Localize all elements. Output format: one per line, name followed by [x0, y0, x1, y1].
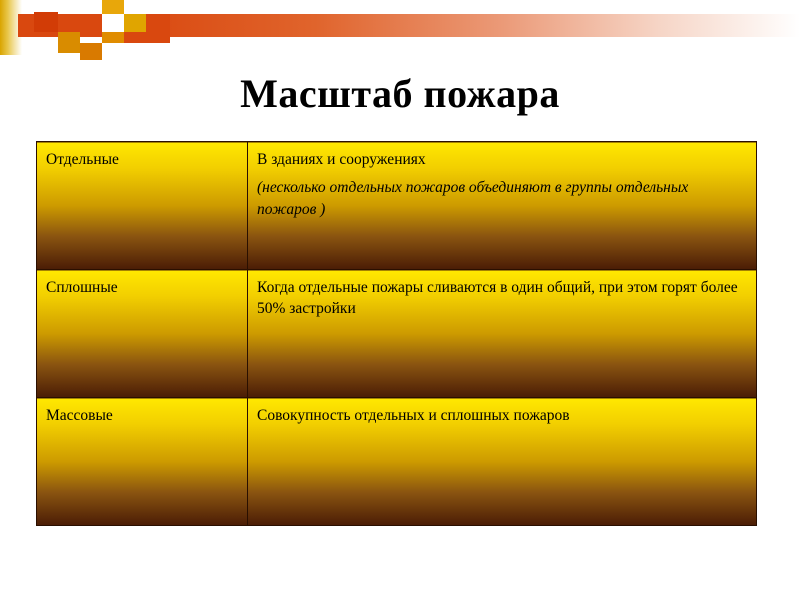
- deco-square-6: [102, 0, 124, 14]
- row-description-line-1: Совокупность отдельных и сплошных пожаро…: [257, 405, 747, 426]
- row-description-line-1: В зданиях и сооружениях: [257, 149, 747, 170]
- row-label-cell: Массовые: [37, 398, 248, 526]
- row-label: Массовые: [46, 405, 238, 426]
- row-description-cell: Когда отдельные пожары сливаются в один …: [248, 270, 757, 398]
- slide-header-decoration: [0, 0, 800, 60]
- deco-square-8: [102, 32, 124, 43]
- row-description-cell: В зданиях и сооружениях (несколько отдел…: [248, 142, 757, 270]
- table-row: Сплошные Когда отдельные пожары сливаютс…: [37, 270, 757, 398]
- table-row: Отдельные В зданиях и сооружениях (неско…: [37, 142, 757, 270]
- deco-square-7: [102, 14, 124, 32]
- deco-square-10: [146, 14, 170, 32]
- deco-square-3: [58, 32, 80, 53]
- deco-square-11: [124, 32, 170, 43]
- table-row: Массовые Совокупность отдельных и сплошн…: [37, 398, 757, 526]
- row-label: Сплошные: [46, 277, 238, 298]
- row-label-cell: Отдельные: [37, 142, 248, 270]
- deco-square-1: [34, 12, 58, 32]
- deco-square-2: [58, 0, 80, 14]
- page-title: Масштаб пожара: [0, 70, 800, 117]
- deco-square-5: [80, 43, 102, 60]
- row-description-line-1: Когда отдельные пожары сливаются в один …: [257, 277, 747, 320]
- row-label-cell: Сплошные: [37, 270, 248, 398]
- deco-square-9: [124, 14, 146, 32]
- row-description-line-2: (несколько отдельных пожаров объединяют …: [257, 177, 747, 220]
- deco-square-4: [80, 0, 102, 14]
- row-label: Отдельные: [46, 149, 238, 170]
- fire-scale-table: Отдельные В зданиях и сооружениях (неско…: [36, 141, 757, 526]
- row-description-cell: Совокупность отдельных и сплошных пожаро…: [248, 398, 757, 526]
